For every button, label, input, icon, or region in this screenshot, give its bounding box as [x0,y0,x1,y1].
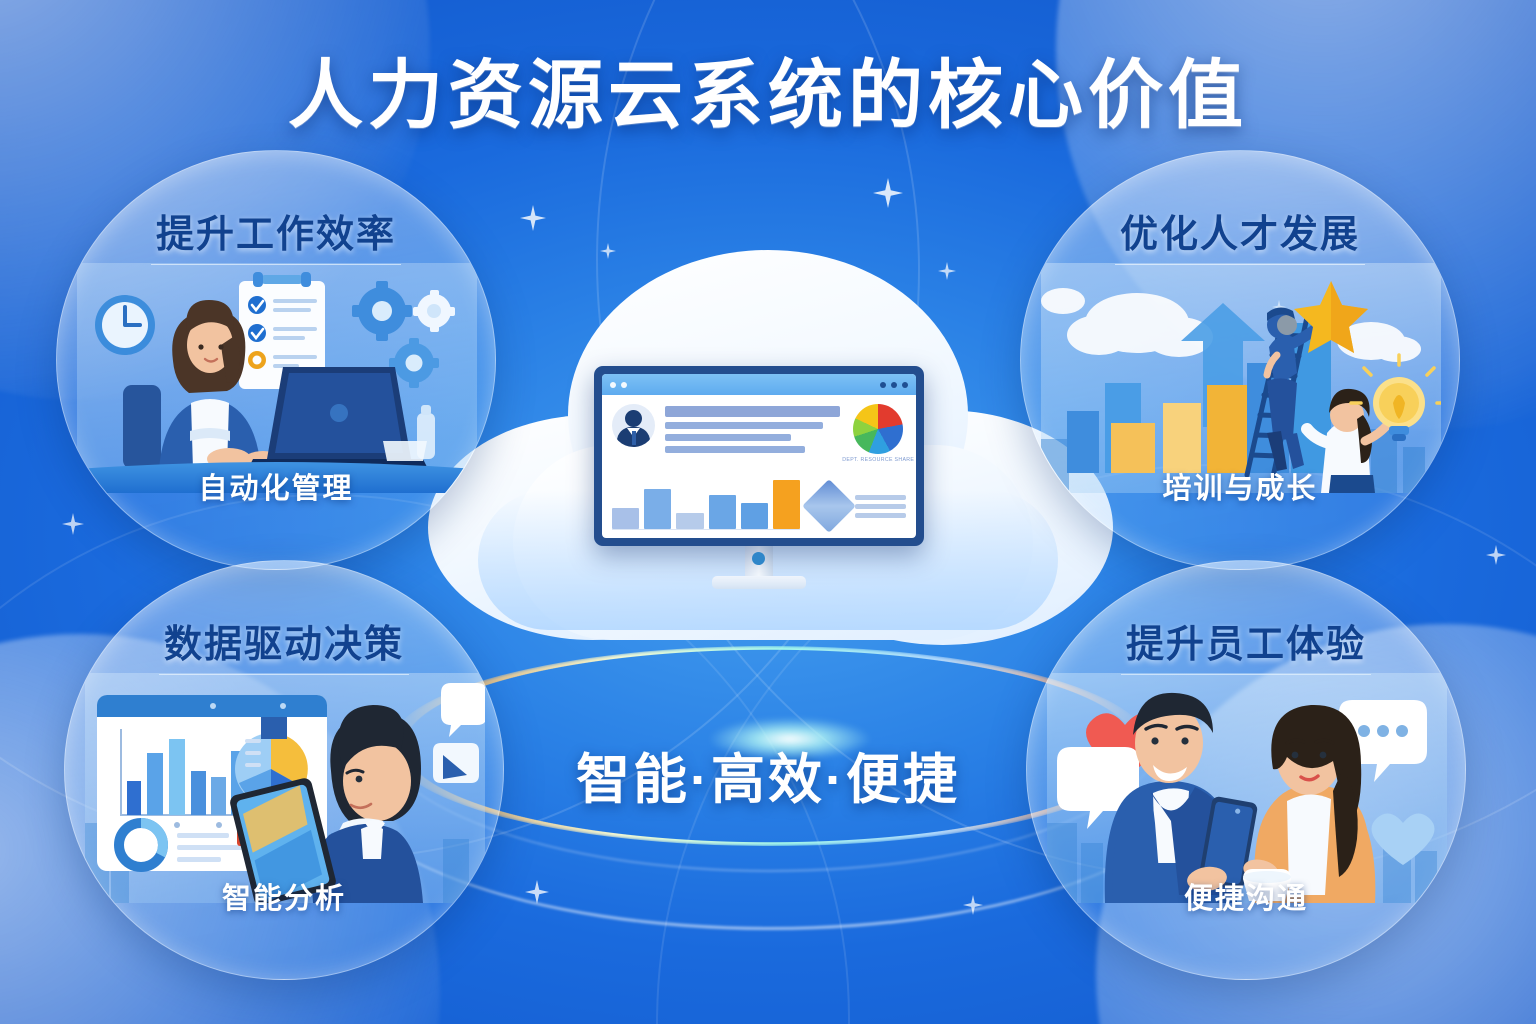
window-dot-icon [880,382,886,388]
window-controls-left[interactable] [610,382,627,388]
text-line [665,446,805,453]
gem-text-placeholder [855,495,906,518]
card-title: 优化人才发展 [1120,203,1360,258]
card-subtitle: 便捷沟通 [1027,875,1465,917]
text-line [855,513,906,518]
avatar [612,404,655,447]
bar-chart-bar [709,495,736,529]
sparkle-icon [873,178,903,208]
pie-chart-caption: DEPT. RESOURCE SHARE [842,457,914,463]
window-dot-icon [610,382,616,388]
page-title-text: 人力资源云系统的核心价值 [288,34,1248,143]
page-title: 人力资源云系统的核心价值 [0,34,1536,143]
pie-chart-icon [853,404,903,454]
sparkle-icon [62,513,84,535]
card-title: 数据驱动决策 [164,613,404,668]
monitor-indicator [752,552,765,565]
illustration-ladder-to-star [1041,263,1441,493]
pie-chart-widget: DEPT. RESOURCE SHARE [850,404,906,463]
avatar-tie [632,431,636,445]
infographic-canvas: 人力资源云系统的核心价值 [0,0,1536,1024]
avatar-head [625,410,642,427]
card-top-left[interactable]: 提升工作效率 [56,150,496,570]
tagline: 智能·高效·便捷 [0,735,1536,814]
dashboard-profile-row: DEPT. RESOURCE SHARE [612,404,906,463]
card-title: 提升员工体验 [1126,613,1366,668]
bar-chart-bar [676,513,703,530]
browser-title-bar [602,374,916,395]
sparkle-icon [520,205,546,231]
monitor-base [712,576,806,589]
illustration-woman-at-laptop [77,263,477,493]
profile-text-placeholder [665,404,840,453]
bar-chart-widget [612,474,800,530]
dashboard-body: DEPT. RESOURCE SHARE [602,395,916,538]
card-subtitle: 智能分析 [65,875,503,917]
bar-chart-bar [741,503,768,529]
text-line [665,434,791,441]
monitor-bezel: DEPT. RESOURCE SHARE [594,366,924,546]
text-line [665,422,823,429]
gem-widget [810,487,906,530]
bar-chart-bar [612,508,639,529]
text-line [855,495,906,500]
monitor-screen: DEPT. RESOURCE SHARE [602,374,916,538]
bar-chart-bar [773,480,800,530]
sparkle-icon [963,895,983,915]
diamond-icon [802,479,856,533]
text-line [665,406,840,417]
window-dot-icon [902,382,908,388]
tagline-text: 智能·高效·便捷 [576,750,960,810]
card-subtitle: 培训与成长 [1021,465,1459,507]
sparkle-icon [1486,545,1506,565]
sparkle-icon [525,880,549,904]
window-dot-icon [891,382,897,388]
text-line [855,504,906,509]
card-subtitle: 自动化管理 [57,465,495,507]
dashboard-monitor: DEPT. RESOURCE SHARE [594,366,924,616]
card-title: 提升工作效率 [156,203,396,258]
window-dot-icon [621,382,627,388]
dashboard-chart-row [612,470,906,530]
card-top-right[interactable]: 优化人才发展 [1020,150,1460,570]
bar-chart-bar [644,489,671,529]
window-controls-right[interactable] [880,382,908,388]
